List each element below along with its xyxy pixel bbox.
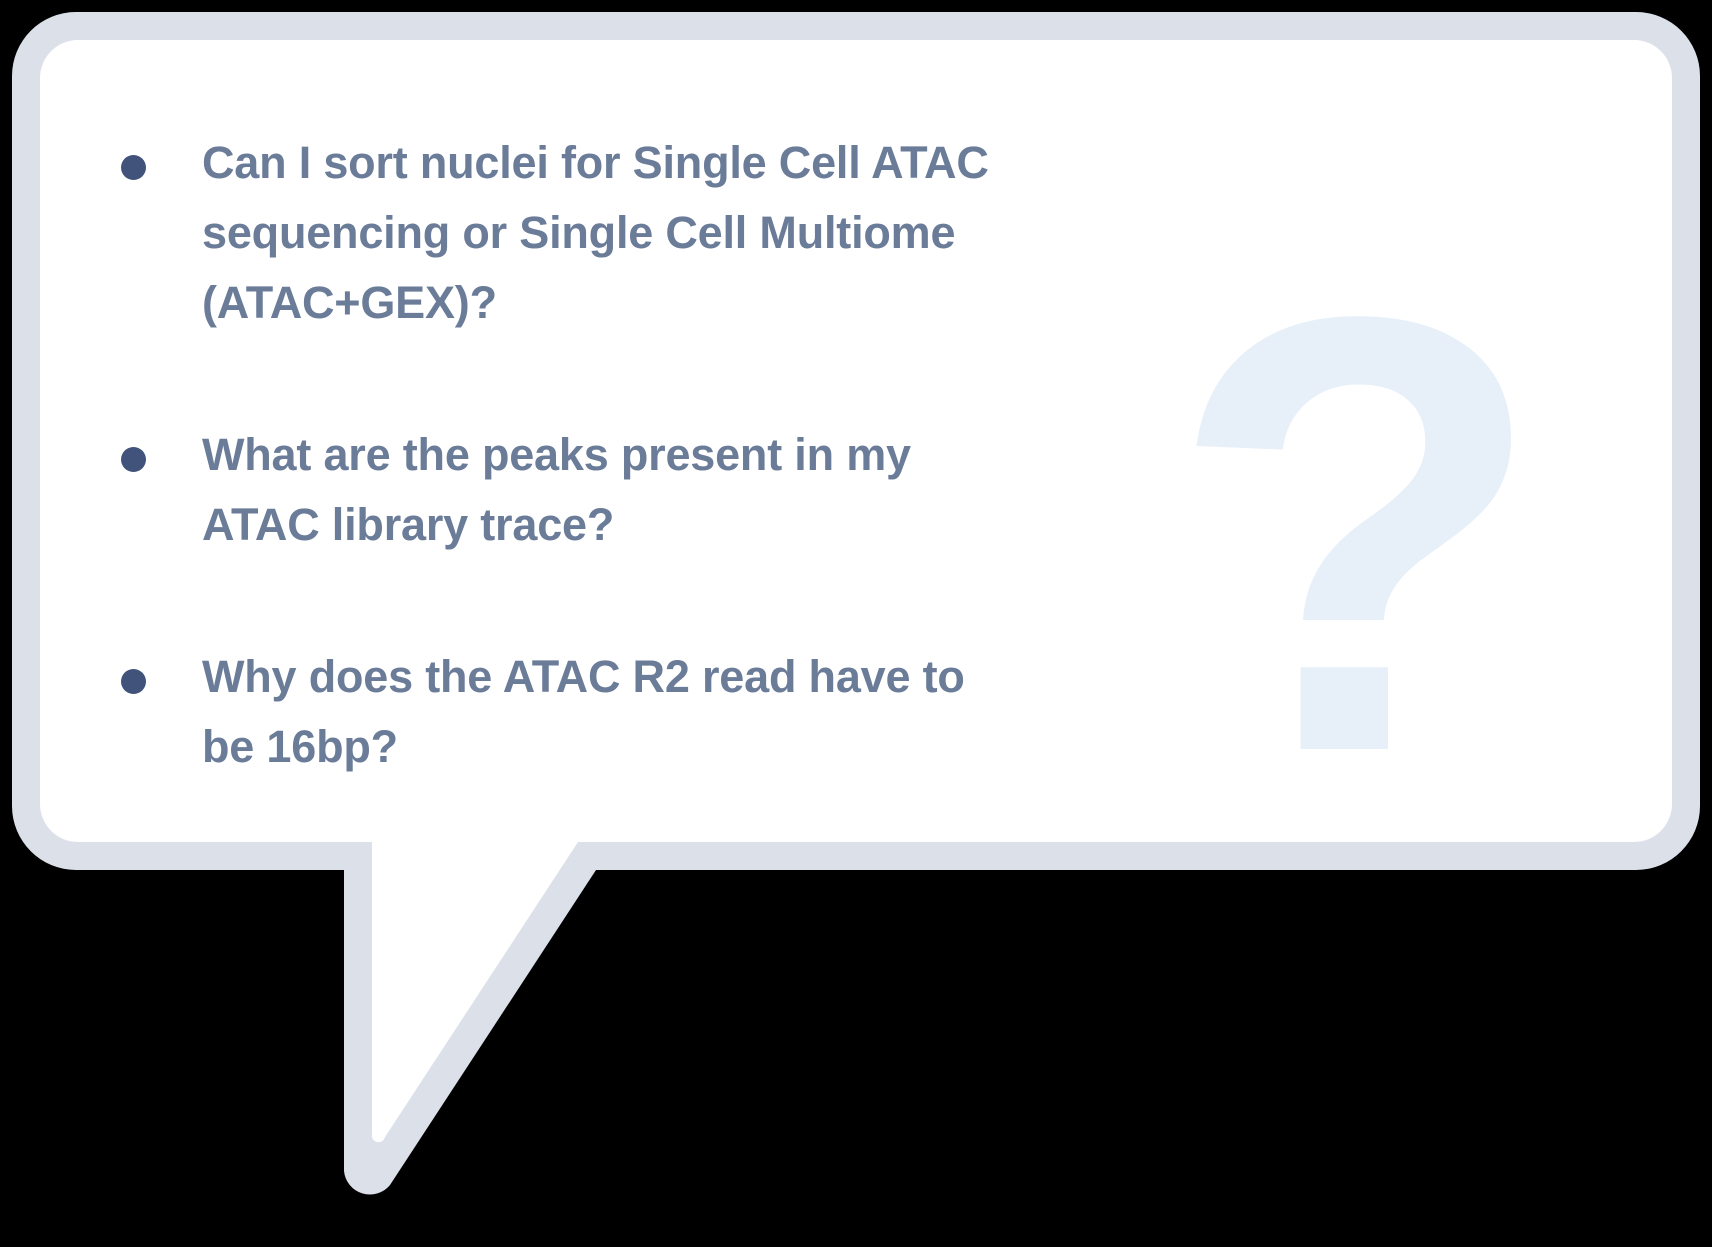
faq-content: Can I sort nuclei for Single Cell ATAC s… (0, 0, 1712, 870)
faq-item-r2-16bp[interactable]: Why does the ATAC R2 read have to be 16b… (110, 642, 1110, 782)
faq-question-text: Why does the ATAC R2 read have to be 16b… (202, 642, 1110, 782)
bullet-dot-icon (121, 155, 146, 180)
faq-question-text: Can I sort nuclei for Single Cell ATAC s… (202, 128, 1110, 338)
faq-item-atac-peaks[interactable]: What are the peaks present in my ATAC li… (110, 420, 1110, 560)
faq-question-list: Can I sort nuclei for Single Cell ATAC s… (110, 128, 1110, 782)
bullet-dot-icon (121, 669, 146, 694)
screenshot-canvas: ? Can I sort nuclei for Single Cell ATAC… (0, 0, 1712, 1247)
bullet-dot-icon (121, 447, 146, 472)
faq-item-sort-nuclei[interactable]: Can I sort nuclei for Single Cell ATAC s… (110, 128, 1110, 338)
faq-question-text: What are the peaks present in my ATAC li… (202, 420, 1110, 560)
